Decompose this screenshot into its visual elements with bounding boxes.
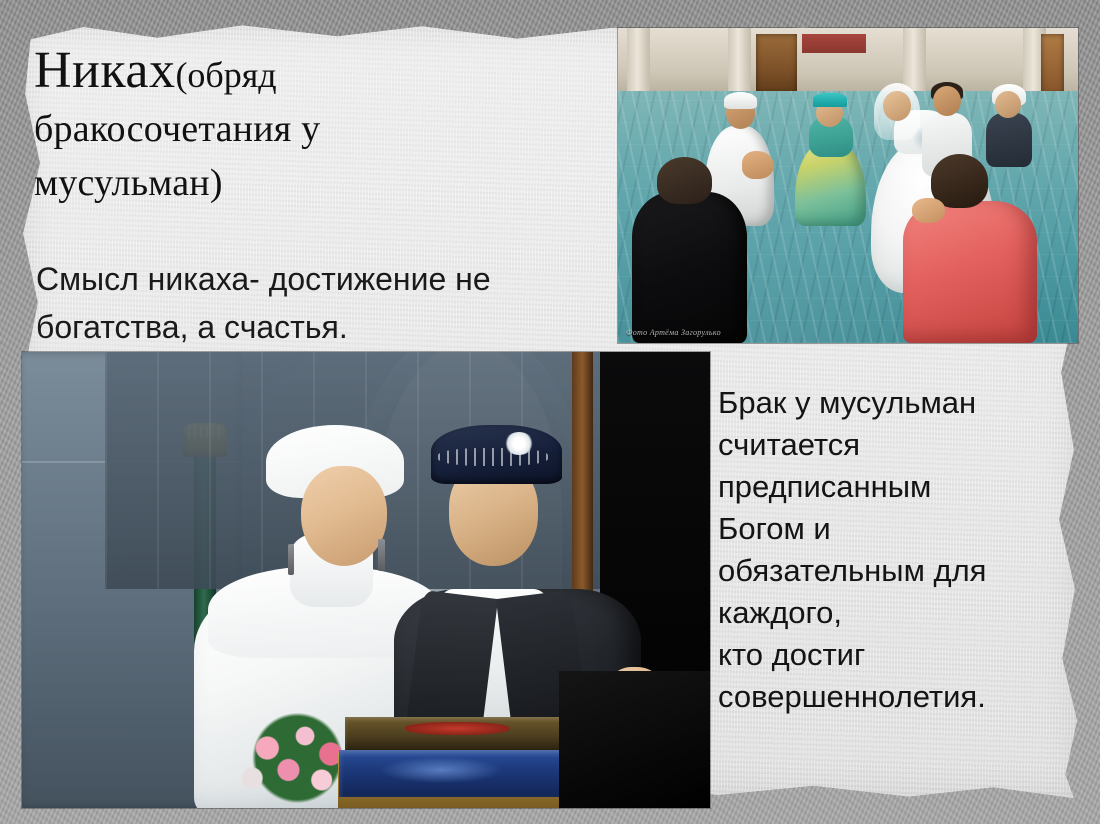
guest-girl-body (986, 113, 1032, 167)
right-text-line-8: совершеннолетия. (718, 676, 1068, 718)
title-line-1: Никах(обряд (34, 44, 614, 102)
quran-book-blue (339, 750, 570, 798)
wall-pillar-3 (903, 28, 926, 94)
imam-taqiyah-cap-icon (724, 92, 757, 108)
wall-pillar-2 (728, 28, 751, 94)
tyubeteika-star-icon (504, 432, 534, 455)
guest-girl-head (995, 91, 1021, 118)
photo-tatar-couple (22, 352, 710, 808)
slide-root: Никах(обряд бракосочетания у мусульман) … (0, 0, 1100, 824)
photo-nikah-ceremony: Фото Артёма Загорулько (618, 28, 1078, 343)
wall-pillar-1 (627, 28, 650, 94)
mosque-door-1 (756, 34, 797, 94)
subtitle-line-1: Смысл никаха- достижение не (36, 255, 611, 303)
right-text-line-3: предписанным (718, 466, 1068, 508)
subtitle-line-2: богатства, а счастья. (36, 303, 611, 351)
title-paren-obryad: (обряд (175, 55, 276, 95)
guest-woman-headdress (813, 93, 847, 107)
slide-title-block: Никах(обряд бракосочетания у мусульман) (34, 44, 614, 210)
photo-watermark-caption: Фото Артёма Загорулько (626, 328, 721, 337)
bride-earring-left (288, 544, 295, 576)
carpet-red-runner (802, 34, 866, 53)
tyubeteika-embroidery (438, 448, 548, 466)
right-text-line-5: обязательным для (718, 550, 1068, 592)
mosque-door-2 (1041, 34, 1064, 94)
guest-man-pink-shirt-hand (912, 198, 944, 223)
right-paragraph-block: Брак у мусульман считается предписанным … (718, 382, 1068, 718)
right-text-line-1: Брак у мусульман (718, 382, 1068, 424)
slide-subtitle-block: Смысл никаха- достижение не богатства, а… (36, 255, 611, 351)
bride-face (301, 466, 387, 566)
guest-man-black-suit (632, 192, 747, 343)
guest-man-black-suit-head (657, 157, 712, 204)
right-text-line-6: каждого, (718, 592, 1068, 634)
title-line-3: мусульман) (34, 156, 614, 210)
ceremony-bride-head (883, 91, 912, 121)
ceremony-groom-head (933, 86, 961, 116)
photo-dark-corner (559, 671, 710, 808)
right-text-line-4: Богом и (718, 508, 1068, 550)
right-text-line-7: кто достиг (718, 634, 1068, 676)
imam-praying-hands (742, 151, 774, 179)
title-line-2: бракосочетания у (34, 102, 614, 156)
right-text-line-2: считается (718, 424, 1068, 466)
bride-earring-right (378, 539, 385, 571)
title-word-nikah: Никах (34, 42, 175, 99)
